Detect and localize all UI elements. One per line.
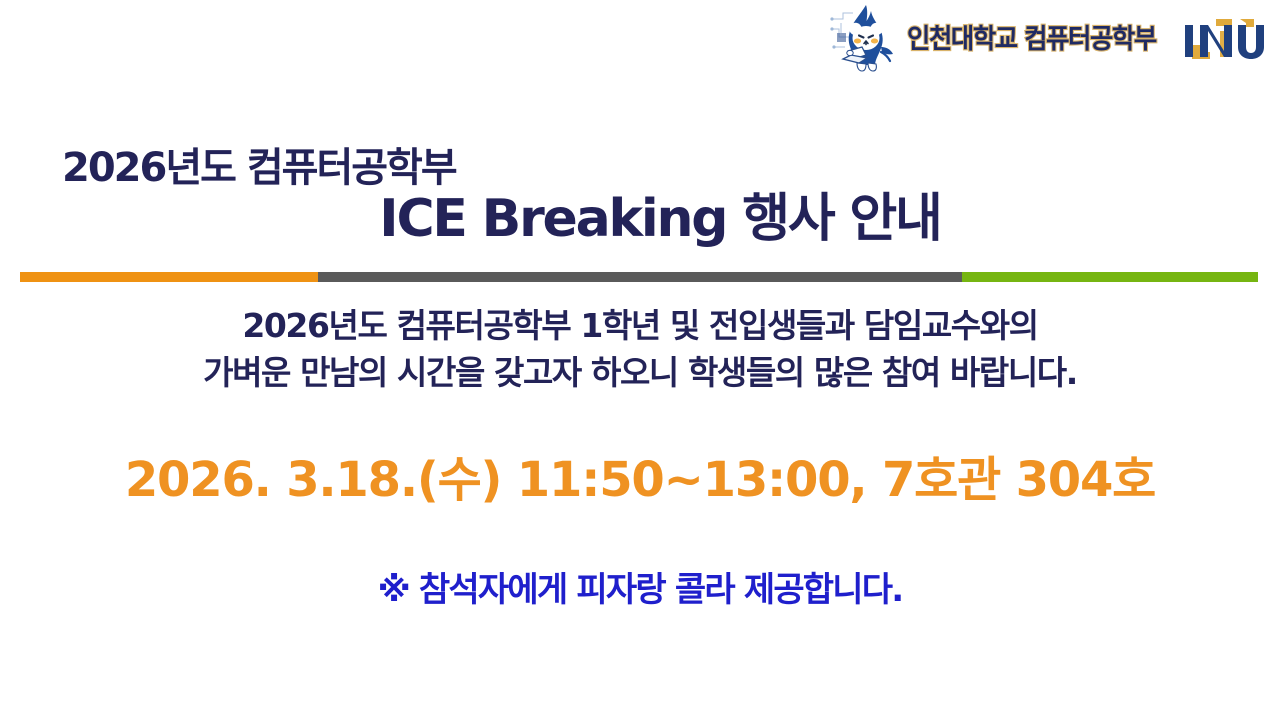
divider-segment-green (962, 272, 1258, 282)
body-line-1: 2026년도 컴퓨터공학부 1학년 및 전입생들과 담임교수와의 (0, 303, 1280, 350)
department-logo-text: 인천대학교 컴퓨터공학부 (907, 26, 1156, 53)
footnote: ※ 참석자에게 피자랑 콜라 제공합니다. (0, 570, 1280, 611)
inu-wordmark-icon (1180, 11, 1266, 67)
title-line-1: 2026년도 컴퓨터공학부 (0, 146, 1280, 190)
divider-segment-gray (318, 272, 962, 282)
schedule-line: 2026. 3.18.(수) 11:50~13:00, 7호관 304호 (0, 452, 1280, 510)
title-line-2: ICE Breaking 행사 안내 (0, 190, 1280, 250)
inu-flame-bear-mascot-icon (829, 3, 901, 75)
divider-segment-orange (20, 272, 318, 282)
body-paragraph: 2026년도 컴퓨터공학부 1학년 및 전입생들과 담임교수와의 가벼운 만남의… (0, 303, 1280, 397)
header-logo-lockup: 인천대학교 컴퓨터공학부 (829, 0, 1266, 78)
body-line-2: 가벼운 만남의 시간을 갖고자 하오니 학생들의 많은 참여 바랍니다. (0, 350, 1280, 397)
page-title: 2026년도 컴퓨터공학부 ICE Breaking 행사 안내 (0, 146, 1280, 250)
divider (20, 272, 1258, 282)
poster-canvas: 인천대학교 컴퓨터공학부 2026년도 컴퓨터공학부 ICE Breaking … (0, 0, 1280, 720)
